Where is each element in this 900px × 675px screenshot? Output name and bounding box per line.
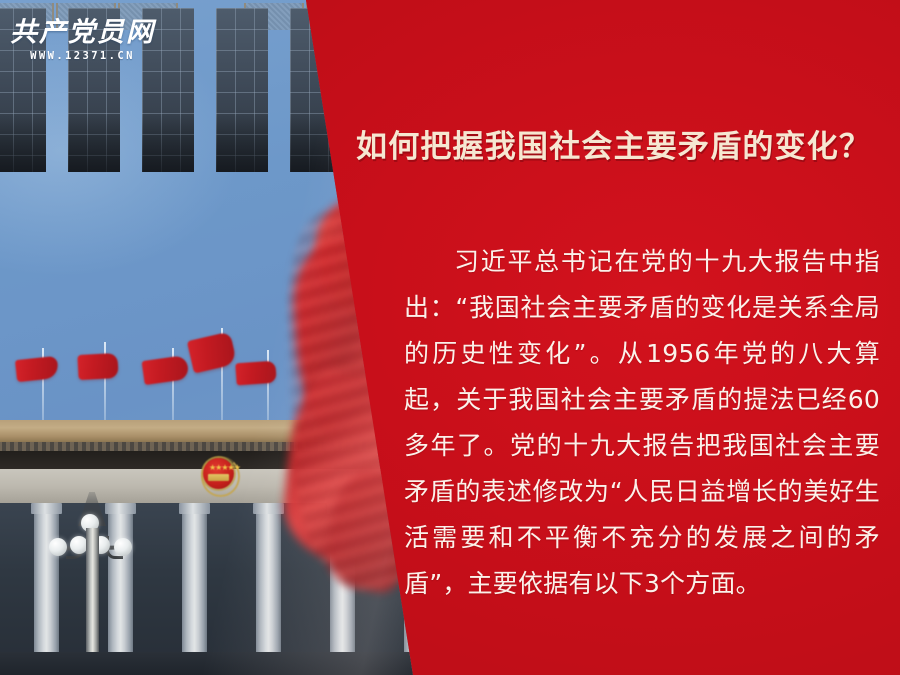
page-title: 如何把握我国社会主要矛盾的变化？ [356,126,876,168]
body-paragraph: 习近平总书记在党的十九大报告中指出：“我国社会主要矛盾的变化是关系全局的历史性变… [404,239,880,607]
emblem-tiananmen [208,474,229,481]
marble-column [34,503,59,675]
marble-column [108,503,133,675]
lamp-globe [114,538,132,556]
roof-flag-5 [235,361,276,386]
national-emblem-icon: ★★★★★ [200,454,237,495]
marble-column [256,503,281,675]
lamp-globe [49,538,67,556]
window-bay [216,8,268,172]
poster-canvas: ★★★★★ [0,0,900,675]
site-logo[interactable]: 共产党员网 WWW.12371.CN [10,18,155,63]
emblem-stars: ★★★★★ [209,463,228,472]
marble-column [182,503,207,675]
plaza-ground [0,652,430,675]
roof-flag-2 [77,353,118,380]
site-logo-name: 共产党员网 [10,18,155,48]
site-logo-url: WWW.12371.CN [10,50,155,63]
